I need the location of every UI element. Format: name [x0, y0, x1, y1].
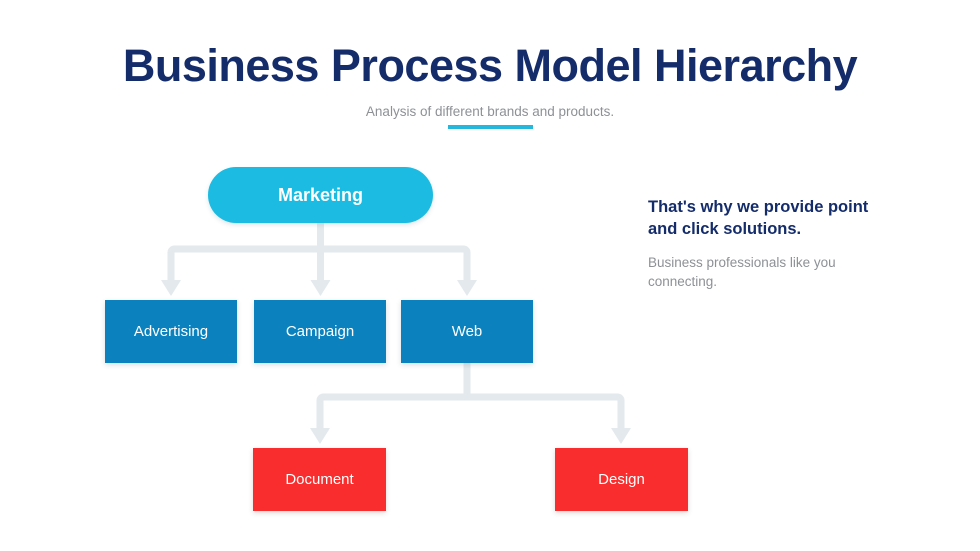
arrowhead-advertising	[161, 280, 181, 296]
node-design-label: Design	[555, 471, 688, 488]
node-marketing[interactable]: Marketing	[208, 167, 433, 223]
hierarchy-diagram: Marketing Advertising Campaign Web Docum…	[0, 0, 720, 551]
node-web-label: Web	[401, 323, 533, 340]
connector-marketing-to-level2	[161, 223, 477, 296]
node-campaign-label: Campaign	[254, 323, 386, 340]
arrowhead-web	[457, 280, 477, 296]
side-panel-heading: That's why we provide point and click so…	[648, 196, 878, 240]
side-panel: That's why we provide point and click so…	[648, 196, 878, 291]
node-marketing-label: Marketing	[208, 185, 433, 206]
node-design[interactable]: Design	[555, 448, 688, 511]
node-document-label: Document	[253, 471, 386, 488]
node-advertising[interactable]: Advertising	[105, 300, 237, 363]
node-web[interactable]: Web	[401, 300, 533, 363]
side-panel-body: Business professionals like you connecti…	[648, 240, 878, 291]
slide-canvas: Business Process Model Hierarchy Analysi…	[0, 0, 980, 551]
node-campaign[interactable]: Campaign	[254, 300, 386, 363]
arrowhead-design	[611, 428, 631, 444]
node-advertising-label: Advertising	[105, 323, 237, 340]
node-document[interactable]: Document	[253, 448, 386, 511]
arrowhead-document	[310, 428, 330, 444]
arrowhead-campaign	[311, 280, 331, 296]
connector-web-to-level3	[310, 363, 631, 444]
